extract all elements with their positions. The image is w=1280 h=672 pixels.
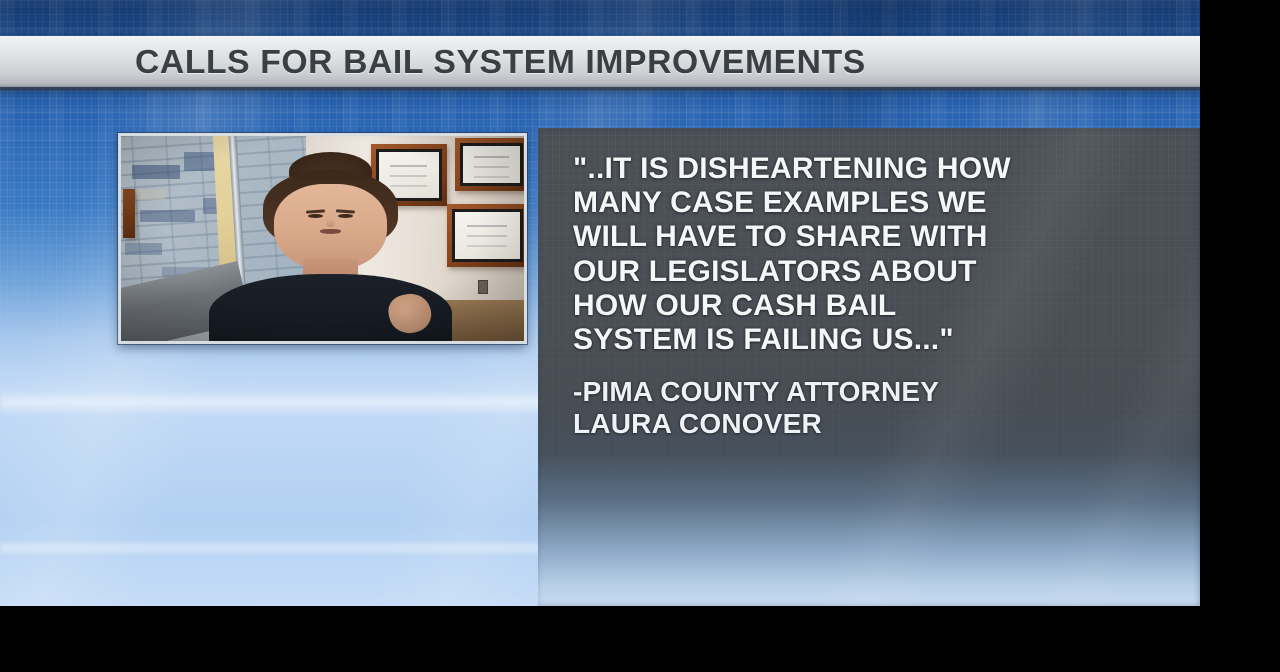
quote-attribution: -PIMA COUNTY ATTORNEY LAURA CONOVER: [573, 376, 1180, 440]
quote-text: "..IT IS DISHEARTENING HOW MANY CASE EXA…: [573, 152, 1180, 357]
video-inset-frame: [121, 136, 524, 341]
broadcast-content-area: CALLS FOR BAIL SYSTEM IMPROVEMENTS: [0, 0, 1200, 606]
video-inset: [118, 133, 527, 344]
quote-panel: "..IT IS DISHEARTENING HOW MANY CASE EXA…: [538, 128, 1200, 606]
broadcast-screenshot: CALLS FOR BAIL SYSTEM IMPROVEMENTS: [0, 0, 1280, 672]
letterbox-bar-right: [1200, 0, 1280, 672]
headline-banner: CALLS FOR BAIL SYSTEM IMPROVEMENTS: [0, 36, 1200, 87]
letterbox-bar-bottom: [0, 606, 1280, 672]
video-vignette: [121, 136, 524, 341]
headline-text: CALLS FOR BAIL SYSTEM IMPROVEMENTS: [135, 43, 866, 81]
